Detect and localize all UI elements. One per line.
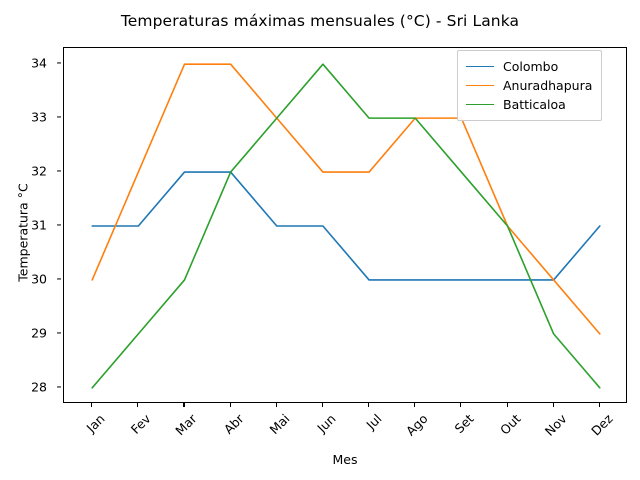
y-axis-label: Temperatura °C xyxy=(16,133,31,333)
y-tick-label: 29 xyxy=(31,325,47,340)
x-tick-label: Fev xyxy=(128,411,154,437)
x-tick-label: Dez xyxy=(588,411,615,438)
x-axis-label: Mes xyxy=(63,452,627,467)
y-tick-mark xyxy=(57,278,61,279)
y-tick-label: 34 xyxy=(31,56,47,71)
legend-label: Batticaloa xyxy=(503,97,566,112)
y-tick-mark xyxy=(57,171,61,172)
x-tick-mark xyxy=(368,403,369,407)
x-tick-mark xyxy=(414,403,415,407)
legend-item-batticaloa[interactable]: Batticaloa xyxy=(466,95,592,114)
chart-figure: Temperaturas máximas mensuales (°C) - Sr… xyxy=(0,0,640,480)
y-tick-label: 32 xyxy=(31,164,47,179)
y-tick-label: 28 xyxy=(31,379,47,394)
legend-swatch-colombo xyxy=(466,66,494,67)
y-tick-mark xyxy=(57,63,61,64)
x-tick-label: Out xyxy=(496,411,523,438)
legend-swatch-batticaloa xyxy=(466,104,494,105)
x-tick-label: Nov xyxy=(541,411,569,439)
x-tick-label: Mai xyxy=(266,411,292,437)
x-tick-mark xyxy=(507,403,508,407)
legend-item-colombo[interactable]: Colombo xyxy=(466,57,592,76)
x-tick-mark xyxy=(137,403,138,407)
x-tick-mark xyxy=(599,403,600,407)
legend-swatch-anuradhapura xyxy=(466,85,494,86)
x-tick-label: Set xyxy=(452,411,477,436)
legend-item-anuradhapura[interactable]: Anuradhapura xyxy=(466,76,592,95)
x-tick-mark xyxy=(183,403,184,407)
y-tick-label: 30 xyxy=(31,271,47,286)
x-tick-label: Abr xyxy=(220,411,246,437)
x-tick-mark xyxy=(276,403,277,407)
x-tick-mark xyxy=(460,403,461,407)
x-tick-mark xyxy=(322,403,323,407)
x-tick-label: Jan xyxy=(84,411,108,435)
x-tick-label: Ago xyxy=(403,411,431,439)
y-tick-mark xyxy=(57,224,61,225)
y-tick-mark xyxy=(57,386,61,387)
x-tick-label: Jun xyxy=(314,411,338,435)
x-tick-mark xyxy=(553,403,554,407)
y-tick-mark xyxy=(57,117,61,118)
y-tick-label: 31 xyxy=(31,218,47,233)
chart-title: Temperaturas máximas mensuales (°C) - Sr… xyxy=(0,12,640,30)
chart-legend: ColomboAnuradhapuraBatticaloa xyxy=(457,50,602,121)
legend-label: Anuradhapura xyxy=(503,78,592,93)
x-tick-mark xyxy=(230,403,231,407)
x-tick-label: Jul xyxy=(363,411,384,432)
x-tick-label: Mar xyxy=(173,411,200,438)
legend-label: Colombo xyxy=(503,59,558,74)
y-tick-label: 33 xyxy=(31,110,47,125)
x-tick-mark xyxy=(91,403,92,407)
y-tick-mark xyxy=(57,332,61,333)
